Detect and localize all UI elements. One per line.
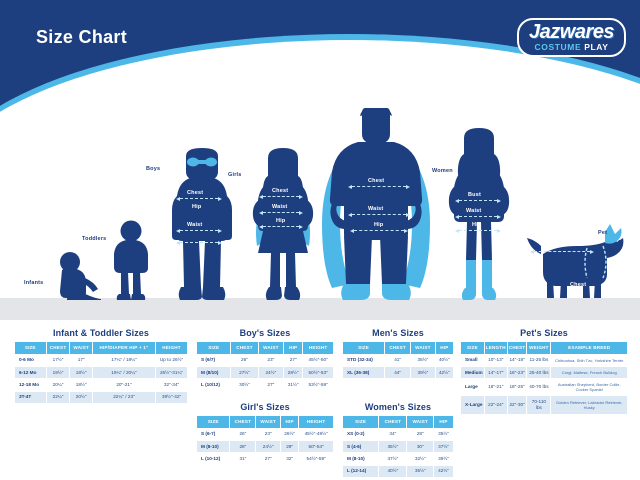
col-waist: WAIST — [407, 416, 434, 429]
cell-waist: 35½" — [411, 354, 436, 366]
cell-chest: 30½" — [231, 379, 258, 391]
table-row: 12-18 Mo 20¼" 18½" 20"-21" 32"-34" — [15, 379, 188, 391]
cell-length: 10"-13" — [484, 354, 507, 366]
cell-size: 0-6 Mo — [15, 354, 47, 366]
cell-chest: 44" — [385, 367, 411, 379]
cell-chest: 37½" — [379, 453, 407, 465]
table-header-row: SIZE CHEST WAIST HIP — [343, 342, 454, 355]
table-row: L (10/12) 30½" 27" 31½" 53½"-59" — [197, 379, 334, 391]
col-breed: EXAMPLE BREED — [551, 342, 628, 355]
man-waist-line — [352, 214, 406, 215]
cell-hip: 20"-21" — [92, 379, 155, 391]
label-pet: Pet — [598, 230, 607, 236]
man-hip-label: Hip — [374, 222, 383, 228]
cell-size: 6-12 Mo — [15, 367, 47, 379]
cell-waist: 27" — [256, 453, 281, 465]
table-row: Small 10"-13" 14"-18" 11-25 lbs Chihuahu… — [461, 354, 628, 366]
girls-size-table: SIZE CHEST WAIST HIP HEIGHT S (6-7) 26" … — [196, 415, 334, 466]
label-girls: Girls — [228, 172, 242, 178]
boy-waist-label: Waist — [187, 222, 202, 228]
label-women: Women — [432, 168, 453, 174]
cell-size: XL (36-38) — [343, 367, 385, 379]
col-size: SIZE — [197, 342, 231, 355]
cell-hip: 19¼" / 20¼" — [92, 367, 155, 379]
label-boys: Boys — [146, 166, 160, 172]
col-height: HEIGHT — [299, 416, 334, 429]
man-chest-line — [352, 186, 406, 187]
cell-weight: 25-40 lbs — [527, 367, 551, 379]
col-height: HEIGHT — [303, 342, 334, 355]
cell-weight: 70-110 lbs — [527, 396, 551, 414]
cell-size: L (12-14) — [343, 465, 379, 477]
jazwares-logo: Jazwares COSTUME PLAY — [517, 18, 626, 57]
woman-bust-label: Bust — [468, 192, 481, 198]
infant-size-table: SIZE CHEST WAIST HIP/DIAPER HIP + 1" HEI… — [14, 341, 188, 404]
col-waist: WAIST — [70, 342, 93, 355]
cell-length: 14"-17" — [484, 367, 507, 379]
label-men: Men — [340, 156, 352, 162]
cell-chest: 35½" — [379, 441, 407, 453]
man-figure — [318, 108, 434, 300]
cell-hip: 39½" — [434, 453, 454, 465]
cell-height: 32"-34" — [156, 379, 188, 391]
table-row: XL (36-38) 44" 39½" 42½" — [343, 367, 454, 379]
col-size: SIZE — [343, 416, 379, 429]
cell-hip: 27" — [284, 354, 303, 366]
women-size-table: SIZE CHEST WAIST HIP XS (0-2) 34" 28" 35… — [342, 415, 454, 478]
cell-chest: 22"-30" — [507, 396, 527, 414]
cell-hip: 28½" — [284, 367, 303, 379]
cell-height: 50½"-53" — [303, 367, 334, 379]
girl-waist-label: Waist — [272, 204, 287, 210]
label-infants: Infants — [24, 280, 43, 286]
cell-waist: 17" — [70, 354, 93, 366]
cell-size: S (6-7) — [197, 428, 230, 440]
col-chest: CHEST — [507, 342, 527, 355]
col-chest: CHEST — [379, 416, 407, 429]
table-row: 0-6 Mo 17½" 17" 17¼" / 18¼" Up to 26½" — [15, 354, 188, 366]
logo-tagline-costume: COSTUME — [535, 42, 582, 52]
cell-size: S (6/7) — [197, 354, 231, 366]
pet-size-table: SIZE LENGTH CHEST WEIGHT EXAMPLE BREED S… — [460, 341, 628, 415]
cell-chest: 31" — [230, 453, 256, 465]
cell-size: Large — [461, 379, 485, 396]
table-row: L (10-12) 31" 27" 32" 54½"-59" — [197, 453, 334, 465]
cell-chest: 19½" — [46, 367, 70, 379]
table-row: X-Large 22"-24" 22"-30" 70-110 lbs Golde… — [461, 396, 628, 414]
cell-chest: 17½" — [46, 354, 70, 366]
cell-weight: 40-70 lbs — [527, 379, 551, 396]
cell-breed: Golden Retriever, Labrador Retriever, Hu… — [551, 396, 628, 414]
cell-size: L (10-12) — [197, 453, 230, 465]
table-header-row: SIZE CHEST WAIST HIP — [343, 416, 454, 429]
woman-hip-label: Hip — [472, 222, 481, 228]
cell-chest: 40½" — [379, 465, 407, 477]
col-hip: HIP — [434, 416, 454, 429]
cell-waist: 23" — [256, 428, 281, 440]
col-waist: WAIST — [258, 342, 284, 355]
col-chest: CHEST — [230, 416, 256, 429]
col-chest: CHEST — [231, 342, 258, 355]
table-caption-boys: Boy's Sizes — [196, 328, 334, 338]
logo-tagline-play: PLAY — [584, 42, 608, 52]
cell-size: M (8-10) — [343, 453, 379, 465]
col-size: SIZE — [197, 416, 230, 429]
cell-waist: 18½" — [70, 379, 93, 391]
infant-figure — [52, 250, 104, 300]
cell-waist: 24½" — [258, 367, 284, 379]
cell-waist: 39½" — [411, 367, 436, 379]
table-caption-girls: Girl's Sizes — [196, 402, 334, 412]
table-infant-toddler: Infant & Toddler Sizes SIZE CHEST WAIST … — [14, 328, 188, 404]
girl-chest-label: Chest — [272, 188, 288, 194]
cell-size: 12-18 Mo — [15, 379, 47, 391]
cell-waist: 20½" — [70, 391, 93, 403]
table-row: Large 18"-21" 18"-25" 40-70 lbs Australi… — [461, 379, 628, 396]
cell-size: XS (0-2) — [343, 428, 379, 440]
cell-size: 3T-4T — [15, 391, 47, 403]
cell-hip: 26½" — [280, 428, 298, 440]
cell-length: 22"-24" — [484, 396, 507, 414]
boy-chest-line — [180, 198, 218, 199]
table-row: M (8/10) 27½" 24½" 28½" 50½"-53" — [197, 367, 334, 379]
table-row: M (8-10) 28" 24½" 29" 50"-54" — [197, 441, 334, 453]
cell-hip: 37½" — [434, 441, 454, 453]
cell-size: Medium — [461, 367, 485, 379]
men-size-table: SIZE CHEST WAIST HIP STD (32-34) 41" 35½… — [342, 341, 454, 379]
page-title: Size Chart — [36, 27, 127, 48]
table-girls: Girl's Sizes SIZE CHEST WAIST HIP HEIGHT… — [196, 402, 334, 466]
cell-size: M (8/10) — [197, 367, 231, 379]
cell-chest: 41" — [385, 354, 411, 366]
table-row: XS (0-2) 34" 28" 35½" — [343, 428, 454, 440]
table-row: S (6-7) 26" 23" 26½" 45½"-49½" — [197, 428, 334, 440]
table-header-row: SIZE LENGTH CHEST WEIGHT EXAMPLE BREED — [461, 342, 628, 355]
col-size: SIZE — [15, 342, 47, 355]
cell-hip: 17¼" / 18¼" — [92, 354, 155, 366]
table-row: 6-12 Mo 19½" 18½" 19¼" / 20¼" 26½"-31¼" — [15, 367, 188, 379]
table-row: S (6/7) 26" 23" 27" 45½"-50" — [197, 354, 334, 366]
cell-hip: 22¼" / 23" — [92, 391, 155, 403]
cell-waist: 30" — [407, 441, 434, 453]
cell-chest: 26" — [230, 428, 256, 440]
cell-size: Small — [461, 354, 485, 366]
pet-figure — [525, 224, 633, 300]
cell-height: 26½"-31¼" — [156, 367, 188, 379]
cell-waist: 32½" — [407, 453, 434, 465]
cell-waist: 23" — [258, 354, 284, 366]
table-row: Medium 14"-17" 16"-23" 25-40 lbs Corgi, … — [461, 367, 628, 379]
girl-waist-line — [263, 212, 299, 213]
col-hip-diaper: HIP/DIAPER HIP + 1" — [92, 342, 155, 355]
pet-length-label: Length — [545, 242, 565, 248]
cell-hip: 42½" — [434, 465, 454, 477]
col-length: LENGTH — [484, 342, 507, 355]
woman-waist-label: Waist — [466, 208, 481, 214]
cell-chest: 22¼" — [46, 391, 70, 403]
cell-hip: 40½" — [435, 354, 453, 366]
cell-size: S (4-6) — [343, 441, 379, 453]
cell-size: L (10/12) — [197, 379, 231, 391]
boy-hip-label: Hip — [192, 204, 201, 210]
boys-size-table: SIZE CHEST WAIST HIP HEIGHT S (6/7) 26" … — [196, 341, 334, 392]
girl-hip-label: Hip — [276, 218, 285, 224]
col-weight: WEIGHT — [527, 342, 551, 355]
cell-chest: 26" — [231, 354, 258, 366]
cell-breed: Corgi, Maltese, French Bulldog — [551, 367, 628, 379]
table-men: Men's Sizes SIZE CHEST WAIST HIP STD (32… — [342, 328, 454, 379]
col-hip: HIP — [435, 342, 453, 355]
table-row: STD (32-34) 41" 35½" 40½" — [343, 354, 454, 366]
table-boys: Boy's Sizes SIZE CHEST WAIST HIP HEIGHT … — [196, 328, 334, 392]
table-pet: Pet's Sizes SIZE LENGTH CHEST WEIGHT EXA… — [460, 328, 628, 415]
cell-height: 50"-54" — [299, 441, 334, 453]
cell-hip: 35½" — [434, 428, 454, 440]
pet-length-line — [534, 251, 590, 252]
cell-waist: 18½" — [70, 367, 93, 379]
table-caption-infant: Infant & Toddler Sizes — [14, 328, 188, 338]
cell-size: STD (32-34) — [343, 354, 385, 366]
logo-wordmark: Jazwares — [529, 22, 614, 42]
table-caption-pet: Pet's Sizes — [460, 328, 628, 338]
boy-chest-label: Chest — [187, 190, 203, 196]
boy-hip-line — [180, 242, 218, 243]
cell-chest: 20¼" — [46, 379, 70, 391]
man-chest-label: Chest — [368, 178, 384, 184]
cell-breed: Chihuahua, Shih Tzu, Yorkshire Terrier — [551, 354, 628, 366]
pet-chest-label: Chest — [570, 282, 586, 288]
cell-chest: 28" — [230, 441, 256, 453]
label-toddlers: Toddlers — [82, 236, 106, 242]
cell-length: 18"-21" — [484, 379, 507, 396]
col-waist: WAIST — [256, 416, 281, 429]
table-caption-men: Men's Sizes — [342, 328, 454, 338]
cell-chest: 27½" — [231, 367, 258, 379]
col-size: SIZE — [343, 342, 385, 355]
table-row: L (12-14) 40½" 35½" 42½" — [343, 465, 454, 477]
col-size: SIZE — [461, 342, 485, 355]
woman-waist-line — [459, 216, 497, 217]
man-waist-label: Waist — [368, 206, 383, 212]
col-chest: CHEST — [46, 342, 70, 355]
ground-strip — [0, 298, 640, 320]
table-caption-women: Women's Sizes — [342, 402, 454, 412]
size-tables: Infant & Toddler Sizes SIZE CHEST WAIST … — [0, 320, 640, 480]
cell-waist: 27" — [258, 379, 284, 391]
cell-height: 39½"-42" — [156, 391, 188, 403]
cell-height: 53½"-59" — [303, 379, 334, 391]
girl-hip-line — [263, 226, 299, 227]
table-header-row: SIZE CHEST WAIST HIP HEIGHT — [197, 342, 334, 355]
figures-illustration: Infants Toddlers Boys C — [0, 108, 640, 320]
cell-hip: 29" — [280, 441, 298, 453]
table-row: 3T-4T 22¼" 20½" 22¼" / 23" 39½"-42" — [15, 391, 188, 403]
cell-chest: 16"-23" — [507, 367, 527, 379]
table-row: M (8-10) 37½" 32½" 39½" — [343, 453, 454, 465]
boy-waist-line — [180, 230, 218, 231]
logo-badge: Jazwares COSTUME PLAY — [517, 18, 626, 57]
cell-chest: 18"-25" — [507, 379, 527, 396]
cell-height: 45½"-50" — [303, 354, 334, 366]
size-chart-page: Size Chart Jazwares COSTUME PLAY Infants — [0, 0, 640, 480]
woman-bust-line — [459, 200, 497, 201]
cell-waist: 35½" — [407, 465, 434, 477]
table-header-row: SIZE CHEST WAIST HIP HEIGHT — [197, 416, 334, 429]
girl-chest-line — [263, 196, 299, 197]
cell-waist: 24½" — [256, 441, 281, 453]
cell-size: X-Large — [461, 396, 485, 414]
cell-weight: 11-25 lbs — [527, 354, 551, 366]
cell-breed: Australian Shepherd, Border Collie, Cock… — [551, 379, 628, 396]
cell-hip: 42½" — [435, 367, 453, 379]
table-header-row: SIZE CHEST WAIST HIP/DIAPER HIP + 1" HEI… — [15, 342, 188, 355]
woman-hip-line — [459, 230, 497, 231]
col-hip: HIP — [284, 342, 303, 355]
cell-hip: 31½" — [284, 379, 303, 391]
toddler-figure — [110, 220, 152, 300]
col-height: HEIGHT — [156, 342, 188, 355]
cell-height: 45½"-49½" — [299, 428, 334, 440]
cell-chest: 14"-18" — [507, 354, 527, 366]
cell-waist: 28" — [407, 428, 434, 440]
table-row: S (4-6) 35½" 30" 37½" — [343, 441, 454, 453]
logo-tagline: COSTUME PLAY — [529, 43, 614, 52]
man-hip-line — [354, 230, 404, 231]
col-hip: HIP — [280, 416, 298, 429]
table-women: Women's Sizes SIZE CHEST WAIST HIP XS (0… — [342, 402, 454, 478]
cell-height: 54½"-59" — [299, 453, 334, 465]
cell-size: M (8-10) — [197, 441, 230, 453]
cell-hip: 32" — [280, 453, 298, 465]
cell-chest: 34" — [379, 428, 407, 440]
col-chest: CHEST — [385, 342, 411, 355]
col-waist: WAIST — [411, 342, 436, 355]
cell-height: Up to 26½" — [156, 354, 188, 366]
